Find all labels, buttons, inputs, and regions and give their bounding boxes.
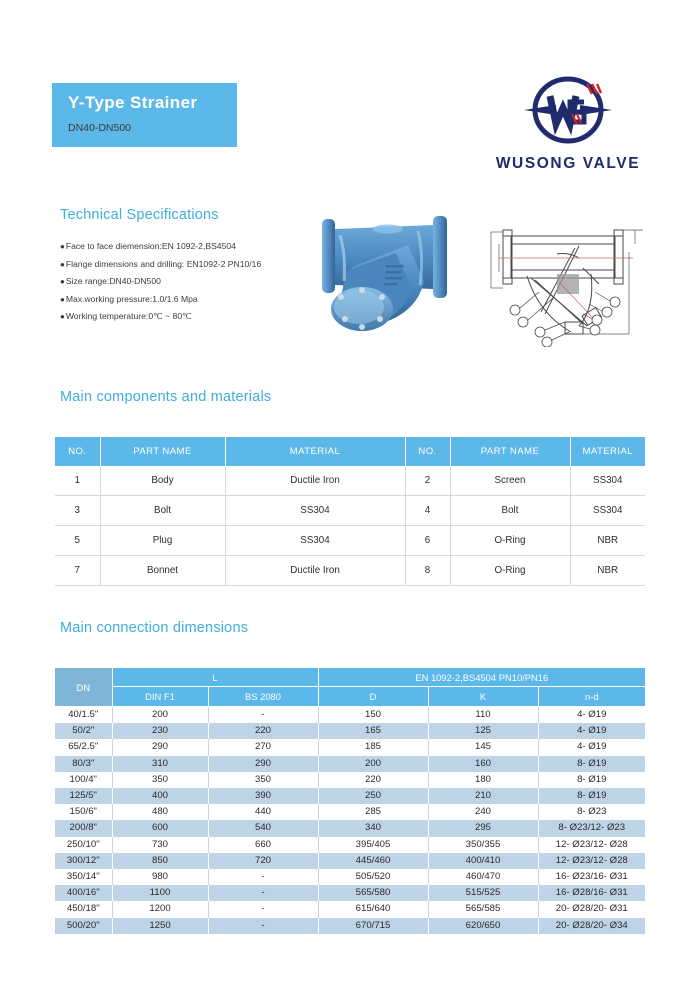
cell-n-d: 16- Ø28/16- Ø31 [538,885,645,901]
dim-col-n-d: n-d [538,687,645,707]
cell-n-d: 4- Ø19 [538,739,645,755]
materials-heading: Main components and materials [60,389,271,405]
cell-n-d: 8- Ø19 [538,772,645,788]
cell-no: 5 [55,526,100,556]
cell-dn: 200/8" [55,820,112,836]
table-row: 40/1.5" 200 - 150 110 4- Ø19 [55,707,645,724]
cell-k: 295 [428,820,538,836]
spec-item: ●Max.working pressure:1.0/1.6 Mpa [60,291,320,309]
cell-k: 210 [428,788,538,804]
dim-group-l: L [112,668,318,687]
materials-table: NO. PART NAME MATERIAL NO. PART NAME MAT… [55,437,645,586]
dim-col-k: K [428,687,538,707]
cell-d: 200 [318,756,428,772]
dimensions-heading: Main connection dimensions [60,620,248,636]
cell-partname: Bolt [100,496,225,526]
cell-n-d: 12- Ø23/12- Ø28 [538,837,645,853]
cell-dn: 50/2" [55,723,112,739]
cell-material: Ductile Iron [225,466,405,496]
cell-partname: O-Ring [450,556,570,586]
cell-material: NBR [570,556,645,586]
cell-k: 180 [428,772,538,788]
cell-material: Ductile Iron [225,556,405,586]
cell-n-d: 20- Ø28/20- Ø34 [538,918,645,934]
cell-partname: O-Ring [450,526,570,556]
table-row: 250/10" 730 660 395/405 350/355 12- Ø23/… [55,837,645,853]
cell-din-f1: 400 [112,788,208,804]
cell-partname: Screen [450,466,570,496]
cell-d: 565/580 [318,885,428,901]
cell-dn: 500/20" [55,918,112,934]
cell-dn: 125/5" [55,788,112,804]
materials-col-partname-2: PART NAME [450,437,570,466]
cell-bs-2080: 350 [208,772,318,788]
table-row: 400/16" 1100 - 565/580 515/525 16- Ø28/1… [55,885,645,901]
cell-din-f1: 1100 [112,885,208,901]
page-title: Y-Type Strainer [68,92,237,114]
cell-din-f1: 1250 [112,918,208,934]
cell-n-d: 20- Ø28/20- Ø31 [538,901,645,917]
cell-din-f1: 350 [112,772,208,788]
cell-d: 340 [318,820,428,836]
cell-n-d: 8- Ø19 [538,788,645,804]
spec-text: Max.working pressure:1.0/1.6 Mpa [66,294,198,304]
cell-no: 3 [55,496,100,526]
spec-item: ●Size range:DN40-DN500 [60,273,320,291]
cell-dn: 100/4" [55,772,112,788]
bullet-icon: ● [60,308,65,326]
materials-header-row: NO. PART NAME MATERIAL NO. PART NAME MAT… [55,437,645,466]
page-header: Y-Type Strainer DN40-DN500 WUSONG VALVE [0,0,700,190]
cell-bs-2080: - [208,918,318,934]
cell-d: 285 [318,804,428,820]
cell-material: SS304 [570,496,645,526]
cell-dn: 400/16" [55,885,112,901]
cell-n-d: 8- Ø19 [538,756,645,772]
materials-col-no-1: NO. [55,437,100,466]
cell-d: 165 [318,723,428,739]
cell-material: SS304 [225,526,405,556]
cell-k: 515/525 [428,885,538,901]
spec-text: Flange dimensions and drilling: EN1092-2… [66,259,261,269]
cell-dn: 40/1.5" [55,707,112,724]
cell-dn: 300/12" [55,853,112,869]
cell-din-f1: 200 [112,707,208,724]
product-title-block: Y-Type Strainer DN40-DN500 [52,83,237,147]
cell-no: 2 [405,466,450,496]
dim-col-bs-2080: BS 2080 [208,687,318,707]
cell-no: 8 [405,556,450,586]
table-row: 80/3" 310 290 200 160 8- Ø19 [55,756,645,772]
company-logo: WUSONG VALVE [488,72,648,182]
spec-item: ●Flange dimensions and drilling: EN1092-… [60,256,320,274]
cell-bs-2080: - [208,869,318,885]
table-row: 450/18" 1200 - 615/640 565/585 20- Ø28/2… [55,901,645,917]
cell-material: SS304 [225,496,405,526]
dimensions-header-row-2: DIN F1 BS 2080 D K n-d [55,687,645,707]
cell-din-f1: 600 [112,820,208,836]
cell-partname: Bonnet [100,556,225,586]
table-row: 1 Body Ductile Iron 2 Screen SS304 [55,466,645,496]
cell-n-d: 4- Ø19 [538,723,645,739]
cell-din-f1: 310 [112,756,208,772]
cell-din-f1: 1200 [112,901,208,917]
cell-partname: Bolt [450,496,570,526]
cell-dn: 150/6" [55,804,112,820]
cell-dn: 65/2.5" [55,739,112,755]
cell-bs-2080: - [208,885,318,901]
cell-no: 7 [55,556,100,586]
materials-col-material-1: MATERIAL [225,437,405,466]
cell-bs-2080: 220 [208,723,318,739]
table-row: 350/14" 980 - 505/520 460/470 16- Ø23/16… [55,869,645,885]
cell-material: NBR [570,526,645,556]
cell-no: 6 [405,526,450,556]
cell-n-d: 16- Ø23/16- Ø31 [538,869,645,885]
table-row: 50/2" 230 220 165 125 4- Ø19 [55,723,645,739]
cell-dn: 250/10" [55,837,112,853]
technical-specifications-heading: Technical Specifications [60,207,219,223]
cell-n-d: 8- Ø23/12- Ø23 [538,820,645,836]
materials-col-partname-1: PART NAME [100,437,225,466]
spec-text: Face to face diemension:EN 1092-2,BS4504 [66,241,236,251]
cell-material: SS304 [570,466,645,496]
cell-dn: 80/3" [55,756,112,772]
cell-k: 400/410 [428,853,538,869]
cell-bs-2080: 390 [208,788,318,804]
table-row: 3 Bolt SS304 4 Bolt SS304 [55,496,645,526]
cell-din-f1: 290 [112,739,208,755]
cell-dn: 450/18" [55,901,112,917]
cell-d: 250 [318,788,428,804]
cell-d: 220 [318,772,428,788]
bullet-icon: ● [60,291,65,309]
cell-d: 505/520 [318,869,428,885]
cell-bs-2080: 440 [208,804,318,820]
cell-din-f1: 850 [112,853,208,869]
cell-no: 4 [405,496,450,526]
table-row: 7 Bonnet Ductile Iron 8 O-Ring NBR [55,556,645,586]
table-row: 500/20" 1250 - 670/715 620/650 20- Ø28/2… [55,918,645,934]
cell-no: 1 [55,466,100,496]
spec-item: ●Face to face diemension:EN 1092-2,BS450… [60,238,320,256]
y-strainer-product-photo [300,205,475,345]
bullet-icon: ● [60,256,65,274]
spec-text: Working temperature:0℃ ~ 80℃ [66,311,192,321]
cell-k: 620/650 [428,918,538,934]
cell-bs-2080: - [208,901,318,917]
dimensions-table: DN L EN 1092-2,BS4504 PN10/PN16 DIN F1 B… [55,668,645,934]
cell-k: 110 [428,707,538,724]
bullet-icon: ● [60,238,65,256]
cell-bs-2080: 660 [208,837,318,853]
cell-din-f1: 230 [112,723,208,739]
cell-bs-2080: 270 [208,739,318,755]
cell-d: 670/715 [318,918,428,934]
cell-bs-2080: 290 [208,756,318,772]
dim-col-d: D [318,687,428,707]
cell-dn: 350/14" [55,869,112,885]
table-row: 150/6" 480 440 285 240 8- Ø23 [55,804,645,820]
dim-col-din-f1: DIN F1 [112,687,208,707]
table-row: 125/5" 400 390 250 210 8- Ø19 [55,788,645,804]
cell-k: 240 [428,804,538,820]
cell-d: 185 [318,739,428,755]
table-row: 200/8" 600 540 340 295 8- Ø23/12- Ø23 [55,820,645,836]
dimensions-header-row-1: DN L EN 1092-2,BS4504 PN10/PN16 [55,668,645,687]
table-row: 300/12" 850 720 445/460 400/410 12- Ø23/… [55,853,645,869]
table-row: 5 Plug SS304 6 O-Ring NBR [55,526,645,556]
cell-n-d: 8- Ø23 [538,804,645,820]
spec-item: ●Working temperature:0℃ ~ 80℃ [60,308,320,326]
cell-din-f1: 730 [112,837,208,853]
bullet-icon: ● [60,273,65,291]
cell-k: 145 [428,739,538,755]
y-strainer-sectional-drawing [483,222,655,347]
company-name: WUSONG VALVE [488,155,648,173]
materials-col-no-2: NO. [405,437,450,466]
cell-k: 460/470 [428,869,538,885]
cell-din-f1: 980 [112,869,208,885]
materials-col-material-2: MATERIAL [570,437,645,466]
cell-k: 125 [428,723,538,739]
cell-partname: Body [100,466,225,496]
cell-bs-2080: - [208,707,318,724]
product-size-range: DN40-DN500 [68,118,237,138]
cell-n-d: 4- Ø19 [538,707,645,724]
technical-specifications-list: ●Face to face diemension:EN 1092-2,BS450… [60,238,320,326]
cell-bs-2080: 540 [208,820,318,836]
cell-din-f1: 480 [112,804,208,820]
cell-d: 395/405 [318,837,428,853]
dim-col-dn: DN [55,668,112,707]
cell-d: 150 [318,707,428,724]
table-row: 100/4" 350 350 220 180 8- Ø19 [55,772,645,788]
cell-k: 350/355 [428,837,538,853]
cell-k: 565/585 [428,901,538,917]
spec-text: Size range:DN40-DN500 [66,276,161,286]
cell-n-d: 12- Ø23/12- Ø28 [538,853,645,869]
cell-bs-2080: 720 [208,853,318,869]
table-row: 65/2.5" 290 270 185 145 4- Ø19 [55,739,645,755]
cell-d: 445/460 [318,853,428,869]
cell-k: 160 [428,756,538,772]
cell-partname: Plug [100,526,225,556]
dim-group-en: EN 1092-2,BS4504 PN10/PN16 [318,668,645,687]
wusong-ws-monogram-icon [488,72,648,152]
cell-d: 615/640 [318,901,428,917]
